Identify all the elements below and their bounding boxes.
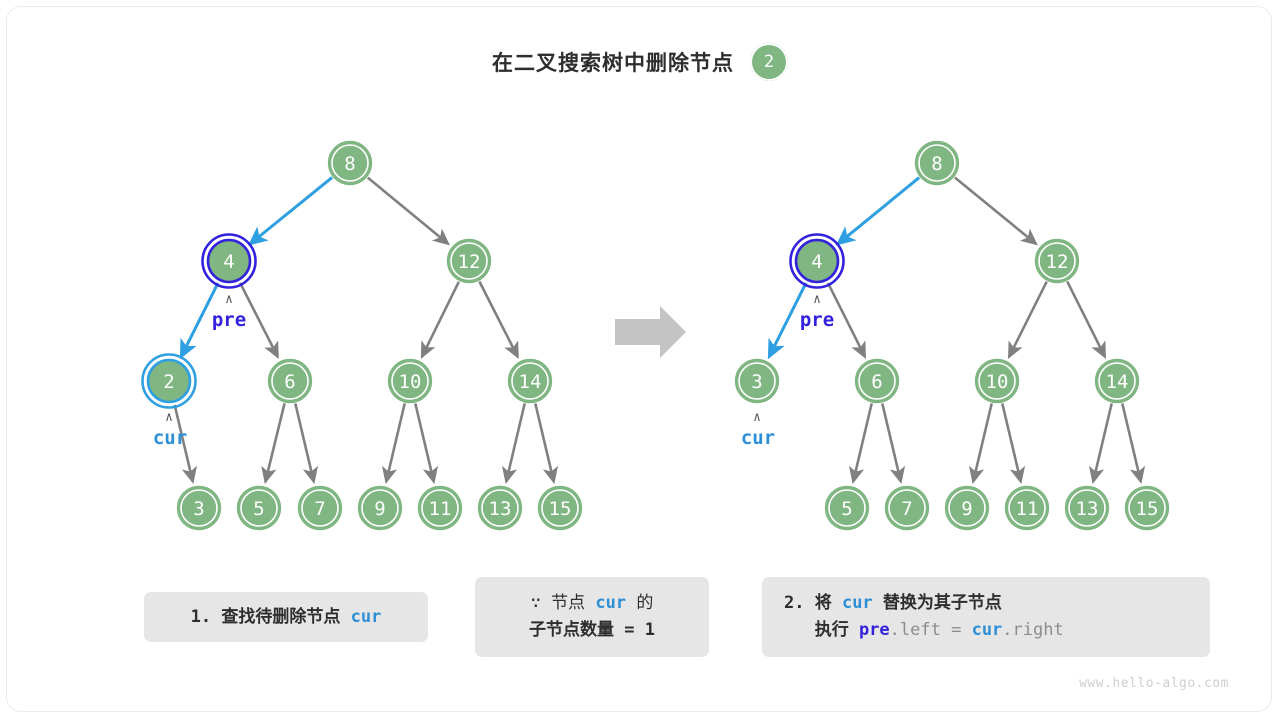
tree-node: 6 <box>269 360 311 402</box>
tree-node-label: 5 <box>841 498 852 520</box>
tree-node-label: 8 <box>931 153 942 175</box>
cur-token: cur <box>351 607 382 627</box>
tree-edge <box>1067 282 1105 357</box>
caption-step-2-line-2: 执行 pre.left = cur.right <box>784 617 1188 644</box>
cur-token: cur <box>595 593 626 613</box>
caption-condition-line-1: ∵ 节点 cur 的 <box>491 590 693 617</box>
tree-node: 3 <box>736 360 778 402</box>
tree-node: 10 <box>976 360 1018 402</box>
tree-edge <box>386 403 405 481</box>
tree-node: 9 <box>359 487 401 529</box>
cur-token: cur <box>972 620 1003 640</box>
tree-node-label: 10 <box>399 371 422 393</box>
pointer-caret-icon: ∧ <box>813 292 821 307</box>
tree-edge <box>422 282 459 357</box>
tree-edge <box>1009 282 1047 357</box>
tree-edge <box>1002 403 1021 481</box>
tree-node-label: 5 <box>253 498 264 520</box>
tree-node-label: 15 <box>549 498 572 520</box>
pointer-label-pre: pre <box>800 309 834 331</box>
tree-node-label: 8 <box>344 153 355 175</box>
tree-node: 4 <box>791 235 844 288</box>
tree-node-label: 10 <box>986 371 1009 393</box>
tree-edge <box>955 178 1036 244</box>
tree-node: 13 <box>479 487 521 529</box>
tree-node-label: 14 <box>519 371 542 393</box>
pointer-label-cur: cur <box>741 427 775 449</box>
cur-token: cur <box>842 593 873 613</box>
tree-node: 2 <box>143 355 196 408</box>
tree-node-label: 3 <box>193 498 204 520</box>
diagram-frame: 在二叉搜索树中删除节点 2 84122610143579111315841236… <box>6 6 1272 712</box>
pre-token: pre <box>859 620 890 640</box>
tree-edge <box>506 403 525 481</box>
tree-edge <box>1122 403 1141 481</box>
tree-node: 12 <box>448 240 490 282</box>
caption-step-1-line: 1. 查找待删除节点 cur <box>158 604 414 631</box>
tree-node: 11 <box>1006 487 1048 529</box>
tree-edge <box>973 403 992 481</box>
pointer-caret-icon: ∧ <box>165 410 173 425</box>
tree-node-label: 14 <box>1106 371 1129 393</box>
tree-node-label: 13 <box>1076 498 1099 520</box>
tree-node-label: 7 <box>314 498 325 520</box>
caption-step-2-line-1: 2. 将 cur 替换为其子节点 <box>784 590 1188 617</box>
tree-node: 12 <box>1036 240 1078 282</box>
tree-node: 4 <box>203 235 256 288</box>
tree-edge <box>535 403 554 481</box>
tree-node: 13 <box>1066 487 1108 529</box>
tree-node-label: 7 <box>901 498 912 520</box>
tree-node: 8 <box>916 142 958 184</box>
tree-node: 6 <box>856 360 898 402</box>
tree-node-label: 12 <box>458 251 481 273</box>
tree-node-label: 11 <box>1016 498 1039 520</box>
tree-edge <box>265 403 284 481</box>
tree-node: 5 <box>238 487 280 529</box>
tree-node-label: 6 <box>871 371 882 393</box>
tree-node-label: 11 <box>429 498 452 520</box>
tree-edge <box>479 282 517 357</box>
tree-node-label: 3 <box>751 371 762 393</box>
tree-node-label: 15 <box>1136 498 1159 520</box>
tree-node-label: 2 <box>163 371 174 393</box>
tree-node: 9 <box>946 487 988 529</box>
pointer-caret-icon: ∧ <box>753 410 761 425</box>
transition-arrow-icon <box>615 306 686 358</box>
caption-condition: ∵ 节点 cur 的 子节点数量 = 1 <box>475 577 709 657</box>
tree-node-label: 9 <box>961 498 972 520</box>
pointer-label-cur: cur <box>153 427 187 449</box>
pointer-label-pre: pre <box>212 309 246 331</box>
tree-node: 7 <box>299 487 341 529</box>
caption-condition-line-2: 子节点数量 = 1 <box>491 617 693 644</box>
tree-node-label: 4 <box>223 251 234 273</box>
tree-node: 15 <box>1126 487 1168 529</box>
tree-node-label: 13 <box>489 498 512 520</box>
tree-node: 3 <box>178 487 220 529</box>
watermark: www.hello-algo.com <box>1079 676 1229 691</box>
tree-node: 14 <box>1096 360 1138 402</box>
tree-edge <box>882 403 901 481</box>
caption-step-1: 1. 查找待删除节点 cur <box>144 592 428 642</box>
tree-node-label: 4 <box>811 251 822 273</box>
tree-edge <box>250 177 332 244</box>
tree-node: 15 <box>539 487 581 529</box>
tree-node-label: 6 <box>284 371 295 393</box>
tree-node: 14 <box>509 360 551 402</box>
tree-edge <box>368 178 448 244</box>
tree-node: 8 <box>329 142 371 184</box>
tree-edge <box>295 403 314 481</box>
tree-node: 7 <box>886 487 928 529</box>
pointer-caret-icon: ∧ <box>225 292 233 307</box>
tree-node-label: 12 <box>1046 251 1069 273</box>
tree-node: 11 <box>419 487 461 529</box>
tree-edge <box>415 403 434 481</box>
tree-edge <box>838 178 919 244</box>
tree-edge <box>853 403 872 481</box>
tree-edge <box>1093 403 1112 481</box>
tree-node: 10 <box>389 360 431 402</box>
pointer-labels: ∧pre∧cur∧pre∧cur <box>153 292 834 449</box>
tree-node-label: 9 <box>374 498 385 520</box>
caption-step-2: 2. 将 cur 替换为其子节点 执行 pre.left = cur.right <box>762 577 1210 657</box>
tree-node: 5 <box>826 487 868 529</box>
